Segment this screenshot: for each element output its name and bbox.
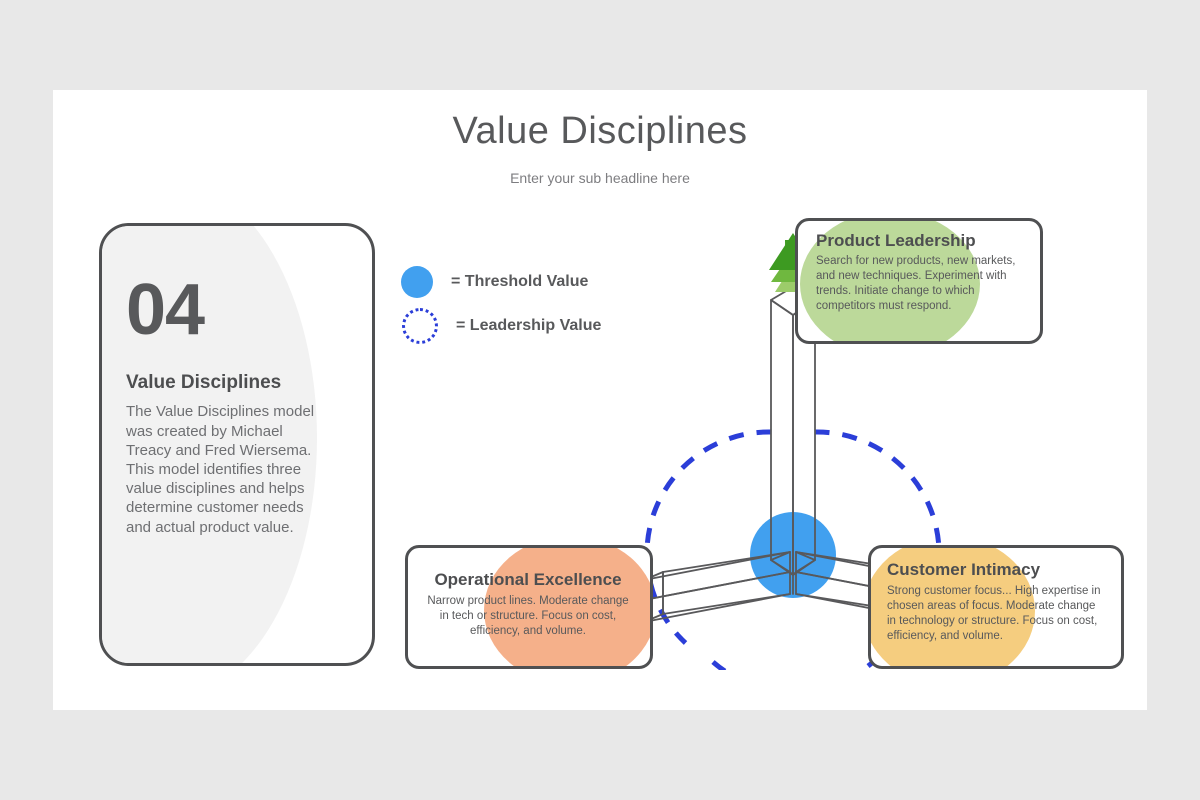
callout-product-leadership[interactable]: Product Leadership Search for new produc… xyxy=(795,218,1043,344)
callout-body: Strong customer focus... High expertise … xyxy=(887,584,1107,644)
callout-body: Search for new products, new markets, an… xyxy=(816,254,1026,314)
intro-card-content: 04 Value Disciplines The Value Disciplin… xyxy=(126,276,354,537)
callout-heading: Product Leadership xyxy=(816,231,1026,251)
callout-customer-intimacy[interactable]: Customer Intimacy Strong customer focus.… xyxy=(868,545,1124,669)
intro-card-heading: Value Disciplines xyxy=(126,372,354,394)
callout-content: Operational Excellence Narrow product li… xyxy=(408,548,650,639)
intro-card: 04 Value Disciplines The Value Disciplin… xyxy=(99,223,375,666)
callout-heading: Operational Excellence xyxy=(422,570,634,590)
callout-content: Product Leadership Search for new produc… xyxy=(798,221,1040,314)
threshold-value-dot-icon xyxy=(401,266,433,298)
page-title: Value Disciplines xyxy=(53,110,1147,153)
leadership-value-dotted-circle-icon xyxy=(402,308,438,344)
step-number: 04 xyxy=(126,276,354,344)
page-subtitle: Enter your sub headline here xyxy=(53,170,1147,186)
intro-card-body: The Value Disciplines model was created … xyxy=(126,402,316,536)
callout-heading: Customer Intimacy xyxy=(887,560,1107,580)
callout-body: Narrow product lines. Moderate change in… xyxy=(422,594,634,639)
callout-operational-excellence[interactable]: Operational Excellence Narrow product li… xyxy=(405,545,653,669)
callout-content: Customer Intimacy Strong customer focus.… xyxy=(871,548,1121,644)
slide-canvas: Value Disciplines Enter your sub headlin… xyxy=(53,90,1147,710)
